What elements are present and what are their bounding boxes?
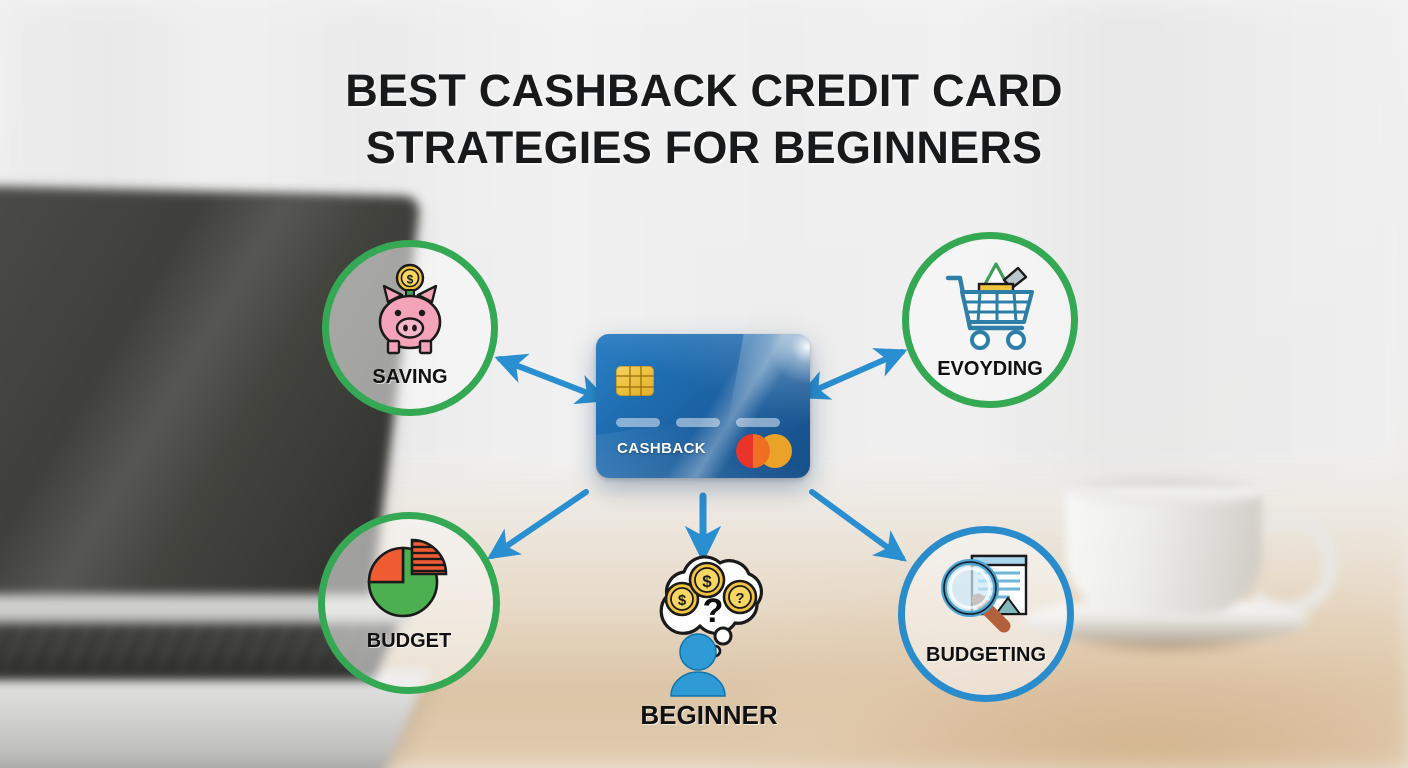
node-label-beginner: BEGINNER xyxy=(614,700,804,731)
card-number-bar xyxy=(616,418,660,427)
card-label: CASHBACK xyxy=(617,440,706,457)
magnifier-document-icon xyxy=(934,550,1038,642)
arrow-card-budgeting xyxy=(812,492,902,558)
infographic-canvas: BEST CASHBACK CREDIT CARD STRATEGIES FOR… xyxy=(0,0,1408,768)
shopping-cart-icon xyxy=(938,256,1042,354)
emv-chip-icon xyxy=(616,366,654,396)
node-label-budget: BUDGET xyxy=(318,630,500,653)
node-beginner[interactable]: $ $ ? ? BEGINNER xyxy=(614,552,804,732)
node-label-evoyding: EVOYDING xyxy=(902,358,1078,381)
icon-wrap-saving: $ xyxy=(322,262,498,366)
pie-chart-icon xyxy=(357,538,461,630)
icon-wrap-beginner: $ $ ? ? xyxy=(614,552,804,702)
node-budgeting[interactable]: BUDGETING xyxy=(898,526,1074,702)
arrow-card-saving xyxy=(500,359,585,392)
svg-text:$: $ xyxy=(702,572,712,591)
svg-text:?: ? xyxy=(703,592,724,630)
card-number-bar xyxy=(736,418,780,427)
mastercard-logo xyxy=(736,434,792,468)
node-evoyding[interactable]: EVOYDING xyxy=(902,232,1078,408)
arrow-card-evoyding xyxy=(820,352,902,388)
arrow-card-budget xyxy=(492,492,586,556)
credit-card[interactable]: CASHBACK xyxy=(596,334,810,478)
svg-text:$: $ xyxy=(678,592,687,609)
node-saving[interactable]: $ SAVING xyxy=(322,240,498,416)
icon-wrap-budget xyxy=(318,538,500,630)
person-thinking-money-icon: $ $ ? ? xyxy=(619,552,799,702)
node-label-budgeting: BUDGETING xyxy=(898,644,1074,667)
piggy-bank-icon: $ xyxy=(362,262,458,366)
icon-wrap-evoyding xyxy=(902,256,1078,354)
icon-wrap-budgeting xyxy=(898,550,1074,642)
node-budget[interactable]: BUDGET xyxy=(318,512,500,694)
svg-text:?: ? xyxy=(735,590,744,607)
node-label-saving: SAVING xyxy=(322,366,498,389)
card-number-bar xyxy=(676,418,720,427)
svg-text:$: $ xyxy=(407,273,414,287)
